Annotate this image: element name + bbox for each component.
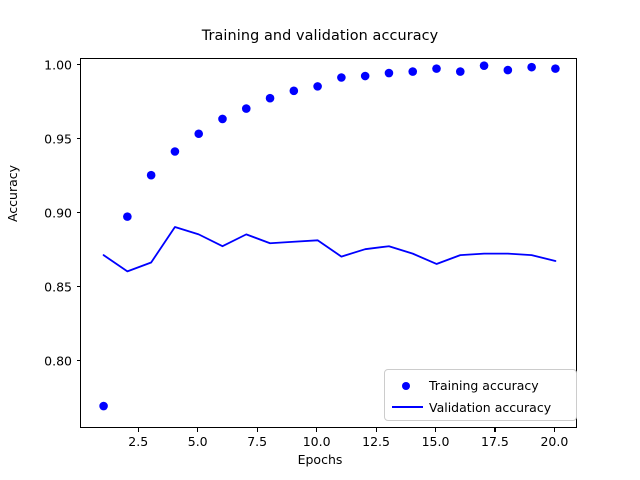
validation-accuracy-line — [104, 227, 556, 271]
x-tick-label: 12.5 — [346, 434, 406, 449]
x-tick-mark — [376, 428, 377, 432]
line-swatch-icon — [392, 406, 423, 408]
x-tick-mark — [494, 428, 495, 432]
data-point — [408, 67, 417, 76]
data-point — [266, 94, 275, 103]
x-axis-label: Epochs — [0, 452, 640, 467]
x-tick-label: 5.0 — [168, 434, 228, 449]
legend: Training accuracy Validation accuracy — [384, 369, 577, 421]
data-point — [242, 104, 251, 113]
data-point — [147, 171, 156, 180]
data-point — [361, 72, 370, 81]
y-axis-label: Accuracy — [5, 165, 20, 222]
x-tick-label: 10.0 — [287, 434, 347, 449]
data-point — [504, 66, 513, 75]
y-tick-mark — [77, 212, 81, 213]
y-tick-mark — [77, 286, 81, 287]
y-tick-label: 0.90 — [12, 205, 72, 220]
data-point — [290, 87, 299, 96]
data-point — [194, 129, 203, 138]
x-tick-mark — [554, 428, 555, 432]
data-point — [337, 73, 346, 82]
legend-item-validation: Validation accuracy — [385, 396, 578, 418]
legend-item-training: Training accuracy — [385, 374, 578, 396]
y-tick-label: 0.95 — [12, 131, 72, 146]
data-point — [456, 67, 465, 76]
page-title: Training and validation accuracy — [0, 28, 640, 44]
figure-canvas: Training and validation accuracy 0.800.8… — [0, 0, 640, 480]
legend-marker-handle — [385, 374, 429, 396]
x-tick-mark — [435, 428, 436, 432]
x-tick-mark — [197, 428, 198, 432]
legend-line-handle — [385, 396, 429, 418]
data-point — [123, 212, 132, 221]
circle-marker-icon — [402, 382, 410, 390]
x-tick-label: 20.0 — [524, 434, 584, 449]
x-tick-label: 17.5 — [465, 434, 525, 449]
x-tick-mark — [257, 428, 258, 432]
x-tick-label: 2.5 — [108, 434, 168, 449]
data-point — [218, 115, 227, 124]
x-tick-mark — [138, 428, 139, 432]
y-tick-label: 0.80 — [12, 353, 72, 368]
data-point — [171, 147, 180, 156]
x-tick-mark — [316, 428, 317, 432]
y-tick-mark — [77, 138, 81, 139]
y-tick-label: 0.85 — [12, 279, 72, 294]
data-point — [551, 64, 560, 73]
x-tick-label: 15.0 — [406, 434, 466, 449]
legend-label-training: Training accuracy — [429, 378, 539, 393]
x-tick-label: 7.5 — [227, 434, 287, 449]
y-tick-mark — [77, 360, 81, 361]
data-point — [527, 63, 536, 72]
data-point — [99, 402, 108, 411]
data-point — [313, 82, 322, 91]
y-tick-mark — [77, 64, 81, 65]
data-point — [385, 69, 394, 78]
y-tick-label: 1.00 — [12, 57, 72, 72]
data-point — [432, 64, 441, 73]
data-point — [480, 61, 489, 70]
legend-label-validation: Validation accuracy — [429, 400, 551, 415]
